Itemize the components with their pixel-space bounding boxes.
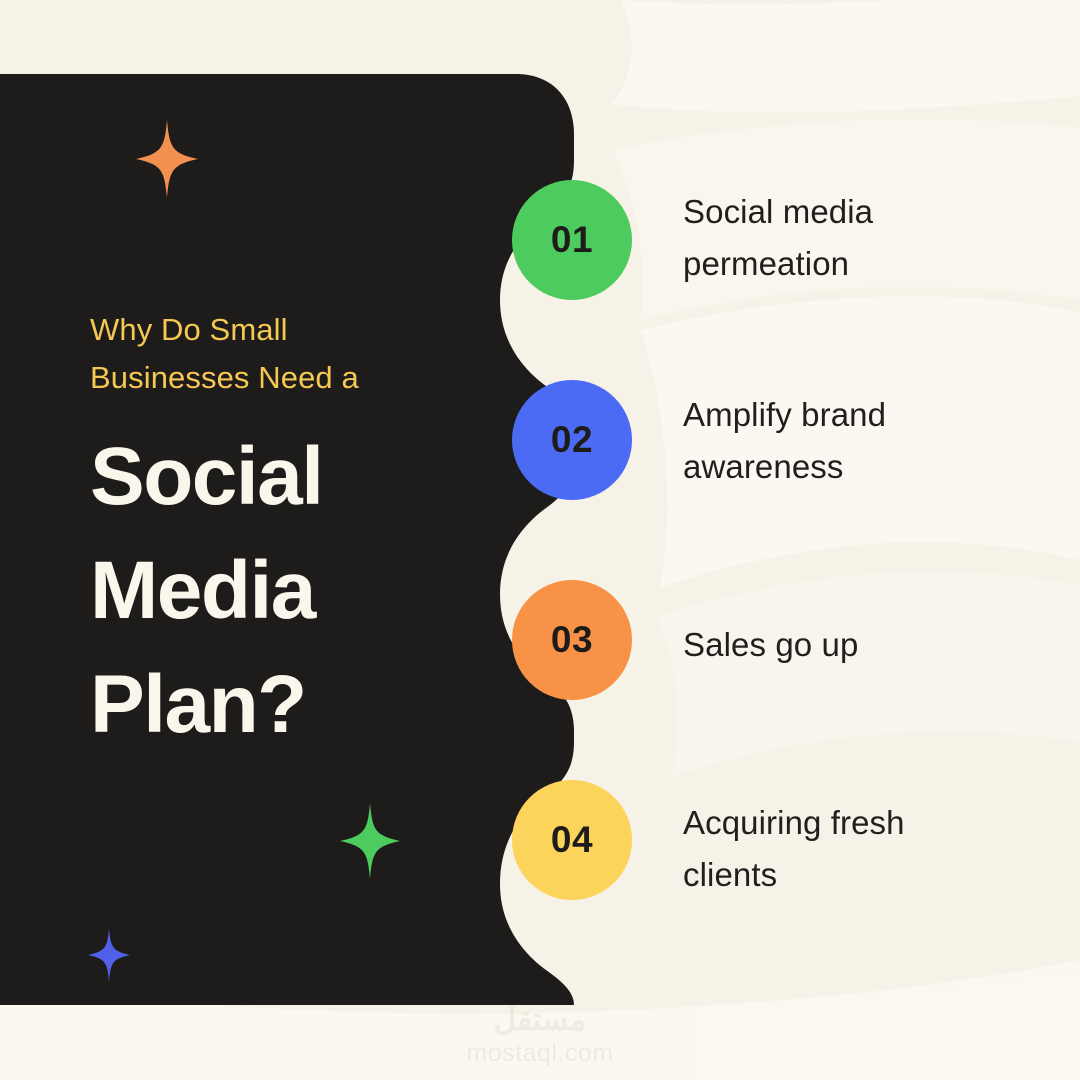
step-number-badge[interactable]: 02 <box>512 380 632 500</box>
step-label: Amplify brand awareness <box>683 389 1013 493</box>
step-number: 01 <box>551 219 593 261</box>
infographic-poster: Why Do Small Businesses Need a Social Me… <box>0 0 1080 1080</box>
steps-list: 01 Social media permeation 02 Amplify br… <box>0 0 1080 1080</box>
watermark-arabic: مستقل <box>0 1002 1080 1038</box>
step-number: 03 <box>551 619 593 661</box>
step-label: Acquiring fresh clients <box>683 797 1013 901</box>
step-label: Sales go up <box>683 619 1013 671</box>
watermark: مستقل mostaql.com <box>0 1002 1080 1068</box>
step-number-badge[interactable]: 04 <box>512 780 632 900</box>
step-label: Social media permeation <box>683 186 1013 290</box>
step-number-badge[interactable]: 01 <box>512 180 632 300</box>
step-number: 02 <box>551 419 593 461</box>
step-number-badge[interactable]: 03 <box>512 580 632 700</box>
watermark-domain: mostaql.com <box>0 1038 1080 1068</box>
step-number: 04 <box>551 819 593 861</box>
